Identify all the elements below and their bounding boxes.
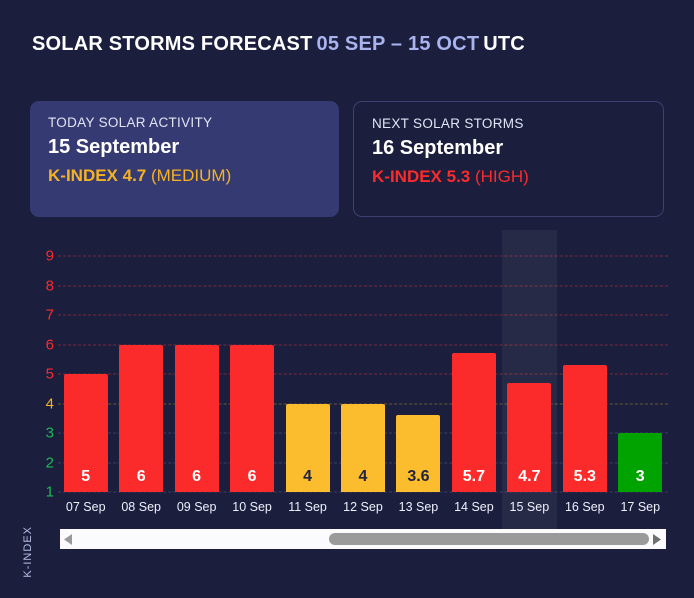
bar-slot-15-sep[interactable]: 4.7 [502, 236, 557, 492]
y-axis-tick-9: 9 [28, 248, 54, 265]
bar-09-sep[interactable]: 6 [175, 345, 219, 493]
card-next-kindex: K-INDEX 5.3 (HIGH) [372, 167, 645, 187]
bar-slot-13-sep[interactable]: 3.6 [391, 236, 446, 492]
card-today-severity: (MEDIUM) [151, 166, 231, 185]
bar-slot-09-sep[interactable]: 6 [169, 236, 224, 492]
page-title-main: SOLAR STORMS FORECAST [32, 33, 313, 55]
bar-15-sep[interactable]: 4.7 [507, 383, 551, 492]
x-axis-tick-labels: 07 Sep08 Sep09 Sep10 Sep11 Sep12 Sep13 S… [58, 498, 668, 520]
triangle-right-icon[interactable] [649, 529, 666, 549]
bar-value-label: 4 [303, 469, 312, 485]
y-axis-tick-labels: 987654321 [28, 236, 54, 492]
summary-cards: TODAY SOLAR ACTIVITY 15 September K-INDE… [30, 101, 664, 217]
y-axis-tick-4: 4 [28, 395, 54, 412]
card-next-date: 16 September [372, 137, 645, 160]
x-axis-tick-14-sep: 14 Sep [446, 498, 501, 516]
bar-slot-14-sep[interactable]: 5.7 [446, 236, 501, 492]
bar-11-sep[interactable]: 4 [286, 404, 330, 493]
bar-slot-16-sep[interactable]: 5.3 [557, 236, 612, 492]
card-next-severity: (HIGH) [475, 167, 529, 186]
scrollbar-thumb[interactable] [329, 533, 649, 545]
bar-value-label: 3 [636, 469, 645, 485]
card-today-kindex-value: K-INDEX 4.7 [48, 166, 146, 185]
y-axis-tick-8: 8 [28, 277, 54, 294]
x-axis-tick-07-sep: 07 Sep [58, 498, 113, 516]
bar-value-label: 6 [137, 469, 146, 485]
card-today-kindex: K-INDEX 4.7 (MEDIUM) [48, 166, 321, 186]
chart-horizontal-scrollbar[interactable] [60, 529, 666, 549]
x-axis-tick-11-sep: 11 Sep [280, 498, 335, 516]
card-next-label: NEXT SOLAR STORMS [372, 116, 645, 131]
page-title-date-range: 05 SEP – 15 OCT [317, 33, 480, 55]
bar-value-label: 6 [248, 469, 257, 485]
x-axis-tick-10-sep: 10 Sep [224, 498, 279, 516]
card-today-solar-activity[interactable]: TODAY SOLAR ACTIVITY 15 September K-INDE… [30, 101, 339, 217]
bar-series: 5666443.65.74.75.33 [58, 236, 668, 492]
y-axis-title: K-INDEX [22, 526, 36, 578]
x-axis-tick-15-sep: 15 Sep [502, 498, 557, 516]
page-title: SOLAR STORMS FORECAST05 SEP – 15 OCTUTC [32, 33, 525, 56]
bar-value-label: 5.3 [574, 469, 596, 485]
triangle-left-icon[interactable] [60, 529, 77, 549]
y-axis-tick-2: 2 [28, 454, 54, 471]
bar-13-sep[interactable]: 3.6 [396, 415, 440, 492]
bar-07-sep[interactable]: 5 [64, 374, 108, 492]
bar-value-label: 5 [81, 469, 90, 485]
y-axis-tick-5: 5 [28, 366, 54, 383]
bar-value-label: 4 [359, 469, 368, 485]
x-axis-tick-17-sep: 17 Sep [613, 498, 668, 516]
bar-16-sep[interactable]: 5.3 [563, 365, 607, 492]
card-next-solar-storms[interactable]: NEXT SOLAR STORMS 16 September K-INDEX 5… [353, 101, 664, 217]
bar-slot-08-sep[interactable]: 6 [113, 236, 168, 492]
y-axis-tick-1: 1 [28, 484, 54, 501]
bar-slot-11-sep[interactable]: 4 [280, 236, 335, 492]
x-axis-tick-08-sep: 08 Sep [113, 498, 168, 516]
bar-17-sep[interactable]: 3 [618, 433, 662, 492]
y-axis-tick-7: 7 [28, 307, 54, 324]
card-next-kindex-value: K-INDEX 5.3 [372, 167, 470, 186]
bar-slot-10-sep[interactable]: 6 [224, 236, 279, 492]
bar-slot-12-sep[interactable]: 4 [335, 236, 390, 492]
bar-slot-17-sep[interactable]: 3 [613, 236, 668, 492]
card-today-label: TODAY SOLAR ACTIVITY [48, 115, 321, 130]
solar-storms-forecast-page: SOLAR STORMS FORECAST05 SEP – 15 OCTUTC … [0, 0, 694, 598]
bar-value-label: 6 [192, 469, 201, 485]
bar-slot-07-sep[interactable]: 5 [58, 236, 113, 492]
bar-12-sep[interactable]: 4 [341, 404, 385, 493]
kindex-bar-chart: 987654321 5666443.65.74.75.33 07 Sep08 S… [0, 236, 694, 598]
y-axis-tick-3: 3 [28, 425, 54, 442]
x-axis-tick-09-sep: 09 Sep [169, 498, 224, 516]
bar-08-sep[interactable]: 6 [119, 345, 163, 493]
scrollbar-track[interactable] [77, 529, 649, 549]
bar-14-sep[interactable]: 5.7 [452, 353, 496, 492]
bar-10-sep[interactable]: 6 [230, 345, 274, 493]
page-title-timezone: UTC [483, 33, 525, 55]
bar-value-label: 3.6 [407, 469, 429, 485]
x-axis-tick-13-sep: 13 Sep [391, 498, 446, 516]
x-axis-tick-12-sep: 12 Sep [335, 498, 390, 516]
bar-value-label: 5.7 [463, 469, 485, 485]
y-axis-tick-6: 6 [28, 336, 54, 353]
chart-plot-area: 5666443.65.74.75.33 [58, 236, 668, 492]
bar-value-label: 4.7 [518, 469, 540, 485]
x-axis-tick-16-sep: 16 Sep [557, 498, 612, 516]
card-today-date: 15 September [48, 136, 321, 159]
